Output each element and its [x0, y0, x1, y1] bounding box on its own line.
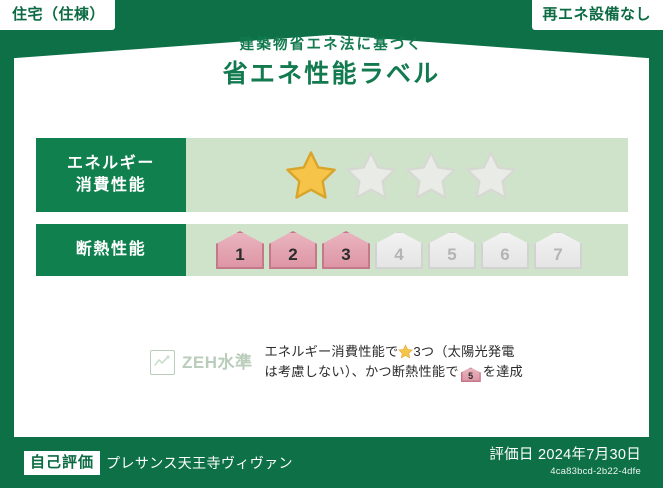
- evaluation-date: 評価日 2024年7月30日: [489, 448, 641, 464]
- insulation-grade-active: 1: [216, 231, 264, 269]
- zeh-desc-part1: エネルギー消費性能で: [265, 344, 399, 359]
- zeh-desc-stars: 3つ（太陽光発電: [413, 344, 514, 359]
- zeh-house-icon: [150, 350, 175, 375]
- label-subtitle: 建築物省エネ法に基づく: [0, 38, 663, 53]
- star-filled-icon: [285, 149, 337, 201]
- zeh-mark-label: ZEH水準: [182, 354, 253, 371]
- insulation-grade-active: 3: [322, 231, 370, 269]
- energy-performance-label: 住宅（住棟） 再エネ設備なし 建築物省エネ法に基づく 省エネ性能ラベル エネルギ…: [0, 0, 663, 488]
- energy-performance-value: [186, 138, 628, 212]
- inline-grade-badge: 5: [461, 367, 481, 382]
- renewable-energy-tag: 再エネ設備なし: [532, 0, 663, 30]
- label-footer: 自己評価 プレサンス天王寺ヴィヴァン 評価日 2024年7月30日 4ca83b…: [0, 437, 663, 488]
- footer-right: 評価日 2024年7月30日 4ca83bcd-2b22-4dfe: [489, 448, 647, 477]
- metric-rows: エネルギー 消費性能 断熱性能 1234567: [36, 138, 628, 288]
- insulation-grade-inactive: 6: [481, 231, 529, 269]
- building-type-tag: 住宅（住棟）: [0, 0, 115, 30]
- insulation-performance-row: 断熱性能 1234567: [36, 224, 628, 276]
- zeh-description: エネルギー消費性能で3つ（太陽光発電 は考慮しない）、かつ断熱性能で5を達成: [265, 342, 523, 383]
- insulation-grade-inactive: 5: [428, 231, 476, 269]
- zeh-desc-part2: は考慮しない）、かつ断熱性能で: [265, 364, 459, 379]
- building-name: プレサンス天王寺ヴィヴァン: [106, 456, 293, 470]
- zeh-mark: ZEH水準: [150, 350, 253, 375]
- energy-label-line2: 消費性能: [76, 175, 146, 197]
- insulation-performance-value: 1234567: [186, 224, 628, 276]
- energy-label-line1: エネルギー: [67, 153, 155, 175]
- evaluation-id: 4ca83bcd-2b22-4dfe: [489, 466, 641, 477]
- insulation-label-line1: 断熱性能: [76, 239, 146, 261]
- zeh-section: ZEH水準 エネルギー消費性能で3つ（太陽光発電 は考慮しない）、かつ断熱性能で…: [150, 342, 523, 383]
- evaluation-type-badge: 自己評価: [24, 451, 100, 475]
- insulation-performance-label-box: 断熱性能: [36, 224, 186, 276]
- insulation-grade-inactive: 4: [375, 231, 423, 269]
- zeh-desc-part3: を達成: [483, 364, 523, 379]
- star-rating: [285, 149, 517, 201]
- star-empty-icon: [345, 149, 397, 201]
- energy-performance-label-box: エネルギー 消費性能: [36, 138, 186, 212]
- energy-performance-row: エネルギー 消費性能: [36, 138, 628, 212]
- label-title-block: 建築物省エネ法に基づく 省エネ性能ラベル: [0, 38, 663, 87]
- insulation-grade-active: 2: [269, 231, 317, 269]
- star-empty-icon: [405, 149, 457, 201]
- footer-left: 自己評価 プレサンス天王寺ヴィヴァン: [24, 451, 293, 475]
- label-main-title: 省エネ性能ラベル: [0, 62, 663, 87]
- inline-star-icon: [398, 344, 413, 359]
- insulation-grade-inactive: 7: [534, 231, 582, 269]
- insulation-grade-scale: 1234567: [216, 231, 582, 269]
- star-empty-icon: [465, 149, 517, 201]
